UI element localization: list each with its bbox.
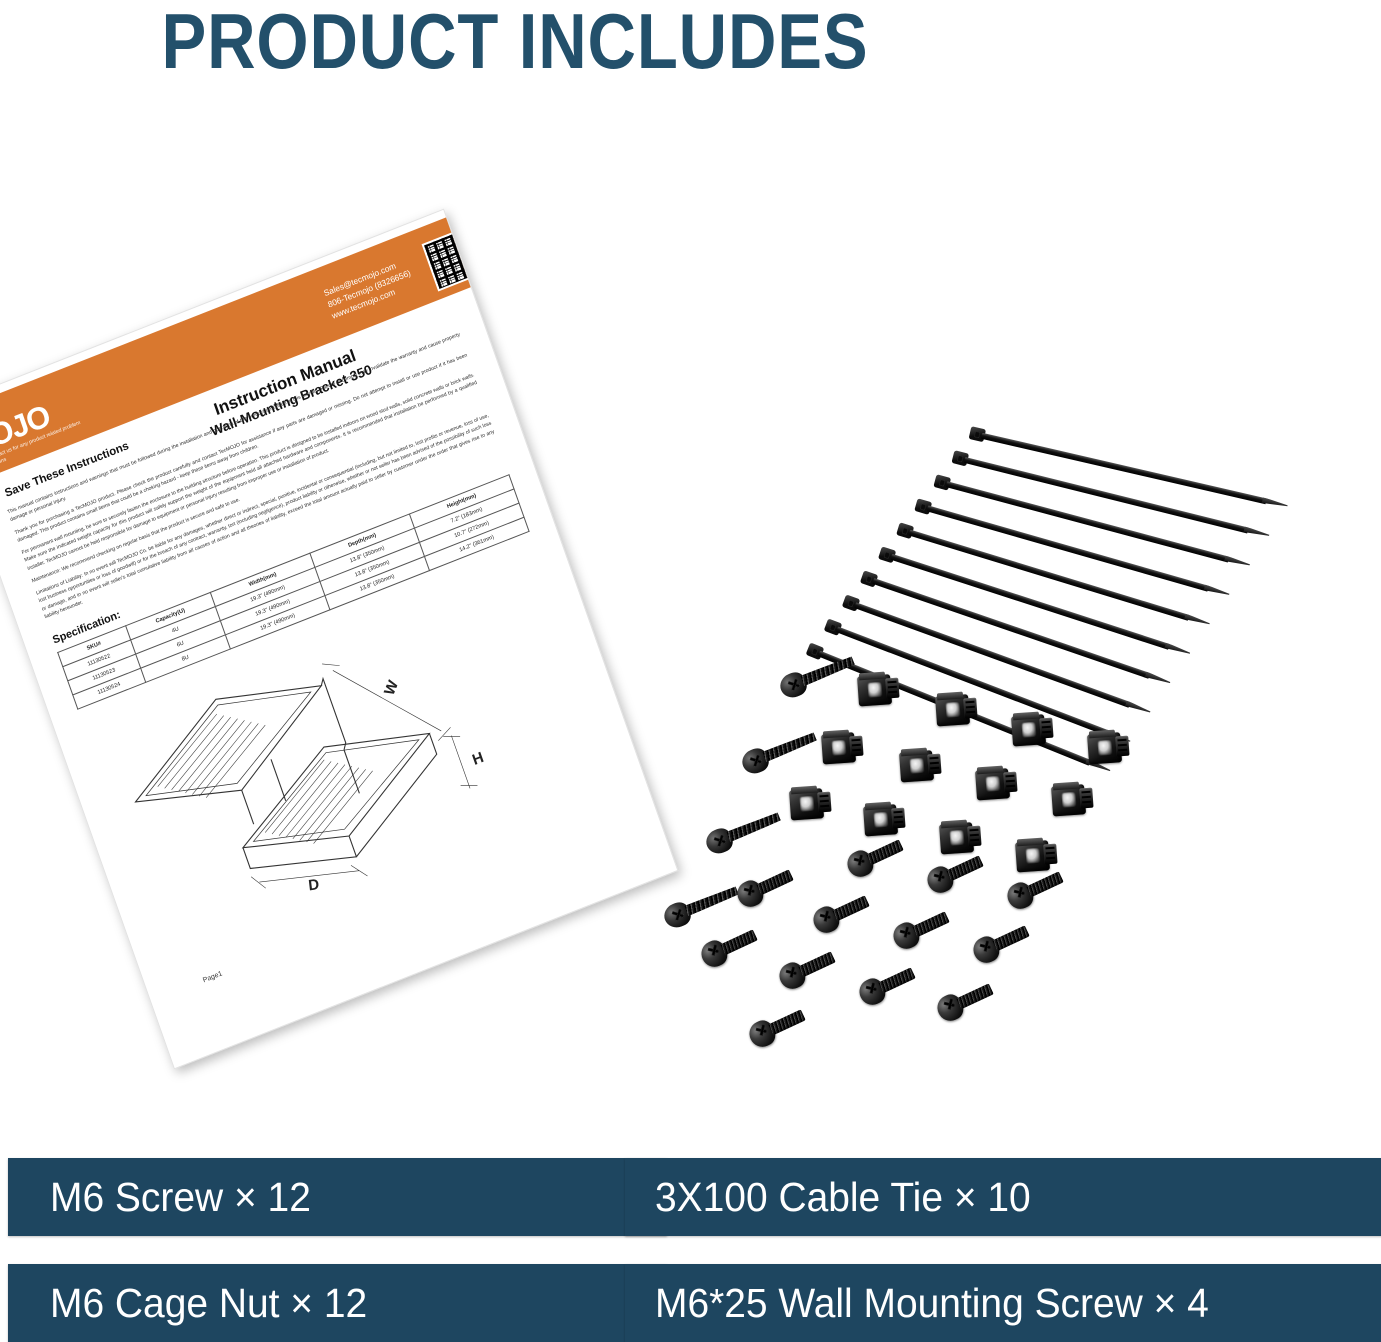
cage-nut [863, 801, 907, 840]
hardware-photo-group [600, 400, 1360, 1060]
cage-nut-tab [1079, 788, 1093, 809]
m6-screw [933, 977, 997, 1025]
cage-nut-hole [799, 796, 814, 812]
tie-tip [1145, 671, 1172, 685]
screw-shaft [684, 885, 739, 916]
cage-nut-hole [1097, 740, 1112, 756]
label-m6-cage-nut: M6 Cage Nut × 12 [8, 1264, 667, 1342]
qr-code-icon [422, 226, 485, 291]
cage-nut [857, 671, 901, 710]
label-text: M6*25 Wall Mounting Screw × 4 [655, 1280, 1209, 1327]
screw-shaft [956, 983, 994, 1009]
screw-shaft [798, 951, 836, 977]
screw-shaft [800, 655, 855, 686]
label-text: 3X100 Cable Tie × 10 [655, 1174, 1031, 1221]
screw-shaft [768, 1009, 806, 1035]
m6-screw [733, 863, 797, 911]
screw-shaft [866, 839, 904, 865]
cage-nut-tab [891, 808, 905, 829]
screw-shaft [756, 869, 794, 895]
cage-nut-tab [1115, 736, 1129, 757]
label-cable-tie: 3X100 Cable Tie × 10 [625, 1158, 1381, 1236]
screw-shaft [720, 929, 758, 955]
wall-mounting-screw [739, 723, 828, 777]
dim-label-height: H [470, 749, 486, 769]
cage-nut [935, 691, 979, 730]
page-title: PRODUCT INCLUDES [72, 2, 958, 80]
cage-nut [1087, 729, 1131, 768]
cage-nut-hole [1025, 848, 1040, 864]
cage-nut [975, 765, 1019, 804]
cage-nut-hole [831, 740, 846, 756]
screw-shaft [762, 731, 817, 762]
label-wall-mounting-screw: M6*25 Wall Mounting Screw × 4 [625, 1264, 1381, 1342]
cage-nut [1051, 781, 1095, 820]
tie-tip [1262, 497, 1289, 509]
screw-shaft [878, 967, 916, 993]
tie-tip [1164, 642, 1191, 656]
cage-nut-tab [817, 792, 831, 813]
page-number: Page1 [202, 970, 223, 984]
m6-screw [809, 889, 873, 937]
tie-strap [981, 432, 1267, 504]
screw-shaft [946, 855, 984, 881]
cage-nut [789, 785, 833, 824]
screw-shaft [832, 895, 870, 921]
tie-tip [1224, 555, 1251, 568]
m6-screw [697, 923, 761, 971]
cage-nut-hole [873, 812, 888, 828]
label-text: M6 Screw × 12 [50, 1174, 311, 1221]
tie-tip [1243, 526, 1270, 538]
wall-mounting-screw [703, 803, 792, 857]
screw-shaft [726, 811, 781, 842]
cage-nut [1011, 711, 1055, 750]
cage-nut-hole [949, 830, 964, 846]
dim-label-depth: D [307, 876, 320, 895]
cage-nut-hole [985, 776, 1000, 792]
m6-screw [775, 945, 839, 993]
screw-shaft [1026, 871, 1064, 897]
dim-label-width: W [381, 677, 402, 697]
cage-nut-tab [849, 736, 863, 757]
cage-nut-hole [1021, 722, 1036, 738]
manual-sheet: Tec MOJO Please contact us for any produ… [0, 209, 678, 1070]
tie-tip [1125, 700, 1151, 715]
cage-nut-tab [927, 754, 941, 775]
manual-contact-block: Sales@tecmojo.com 806-Tecmojo (8326656) … [322, 255, 417, 322]
cage-nut-tab [967, 826, 981, 847]
cage-nut-hole [909, 758, 924, 774]
cage-nut-hole [945, 702, 960, 718]
cage-nut-tab [885, 678, 899, 699]
screw-shaft [992, 925, 1030, 951]
label-m6-screw: M6 Screw × 12 [8, 1158, 667, 1236]
tie-tip [1184, 613, 1211, 626]
cage-nut-hole [867, 682, 882, 698]
m6-screw [855, 961, 919, 1009]
product-includes-labels: M6 Screw × 12 3X100 Cable Tie × 10 M6 Ca… [0, 1152, 1381, 1332]
screw-shaft [912, 911, 950, 937]
cage-nut [899, 747, 943, 786]
cage-nut-tab [1039, 718, 1053, 739]
cage-nut-tab [963, 698, 977, 719]
m6-screw [745, 1003, 809, 1051]
m6-screw [969, 919, 1033, 967]
cage-nut-hole [1061, 792, 1076, 808]
m6-screw [889, 905, 953, 953]
cage-nut-tab [1003, 772, 1017, 793]
cage-nut-tab [1043, 844, 1057, 865]
label-text: M6 Cage Nut × 12 [50, 1280, 367, 1327]
m6-screw [843, 833, 907, 881]
tie-tip [1204, 584, 1231, 597]
cage-nut [821, 729, 865, 768]
